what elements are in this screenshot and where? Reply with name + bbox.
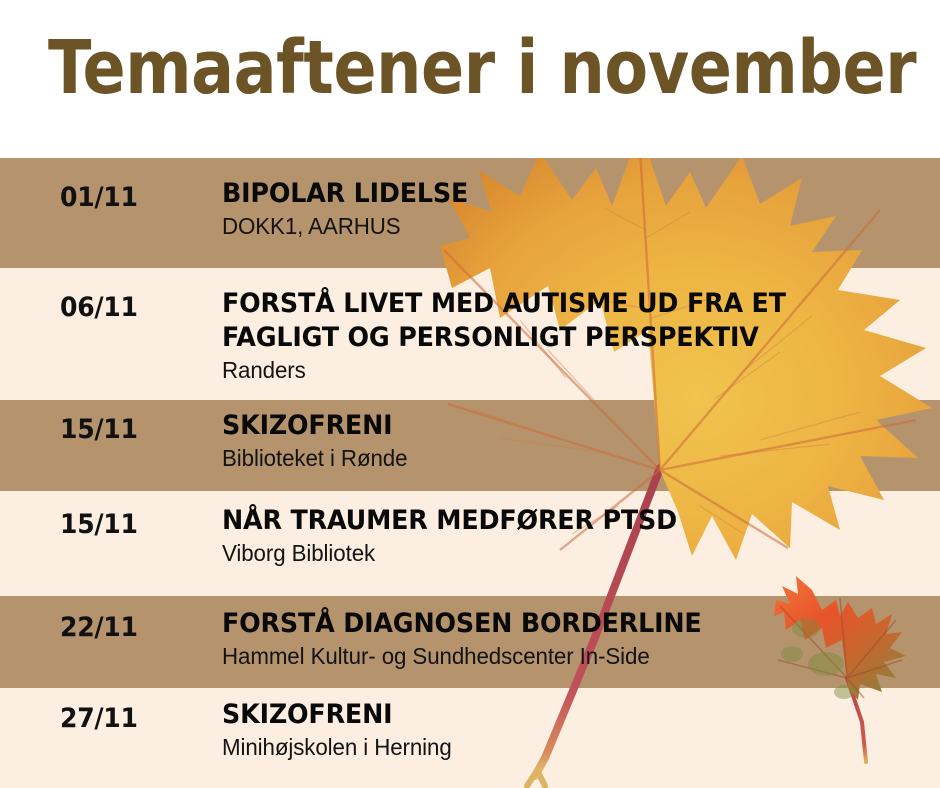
- page-title: Temaaftener i november: [48, 26, 916, 110]
- event-title: BIPOLAR LIDELSE: [222, 177, 888, 211]
- title-bar: Temaaftener i november: [0, 0, 940, 158]
- list-item: 27/11 SKIZOFRENI Minihøjskolen i Herning: [0, 688, 940, 788]
- list-item: 15/11 SKIZOFRENI Biblioteket i Rønde: [0, 400, 940, 491]
- event-venue: Biblioteket i Rønde: [222, 443, 909, 473]
- list-item: 22/11 FORSTÅ DIAGNOSEN BORDERLINE Hammel…: [0, 596, 940, 688]
- list-item: 06/11 FORSTÅ LIVET MED AUTISME UD FRA ET…: [0, 268, 940, 400]
- event-venue: Randers: [222, 355, 909, 385]
- event-date: 15/11: [60, 415, 138, 445]
- event-title: SKIZOFRENI: [222, 698, 888, 732]
- event-date: 27/11: [60, 704, 138, 734]
- event-title: FORSTÅ LIVET MED AUTISME UD FRA ET: [222, 287, 888, 321]
- event-title: FORSTÅ DIAGNOSEN BORDERLINE: [222, 607, 888, 641]
- event-body: BIPOLAR LIDELSE DOKK1, AARHUS: [222, 177, 930, 241]
- event-body: FORSTÅ LIVET MED AUTISME UD FRA ET FAGLI…: [222, 287, 930, 385]
- event-title: SKIZOFRENI: [222, 409, 888, 443]
- event-body: SKIZOFRENI Minihøjskolen i Herning: [222, 698, 930, 762]
- event-date: 15/11: [60, 510, 138, 540]
- event-venue: Hammel Kultur- og Sundhedscenter In-Side: [222, 641, 909, 671]
- event-title-line2: FAGLIGT OG PERSONLIGT PERSPEKTIV: [222, 321, 888, 355]
- event-body: SKIZOFRENI Biblioteket i Rønde: [222, 409, 930, 473]
- list-item: 01/11 BIPOLAR LIDELSE DOKK1, AARHUS: [0, 158, 940, 268]
- event-venue: Viborg Bibliotek: [222, 538, 909, 568]
- list-item: 15/11 NÅR TRAUMER MEDFØRER PTSD Viborg B…: [0, 491, 940, 596]
- event-venue: DOKK1, AARHUS: [222, 211, 909, 241]
- event-date: 22/11: [60, 613, 138, 643]
- event-title: NÅR TRAUMER MEDFØRER PTSD: [222, 504, 888, 538]
- event-body: NÅR TRAUMER MEDFØRER PTSD Viborg Bibliot…: [222, 504, 930, 568]
- event-date: 06/11: [60, 293, 138, 323]
- event-venue: Minihøjskolen i Herning: [222, 732, 909, 762]
- poster-canvas: Temaaftener i november 01/11 BIPOLAR LID…: [0, 0, 940, 788]
- event-date: 01/11: [60, 183, 138, 213]
- event-body: FORSTÅ DIAGNOSEN BORDERLINE Hammel Kultu…: [222, 607, 930, 671]
